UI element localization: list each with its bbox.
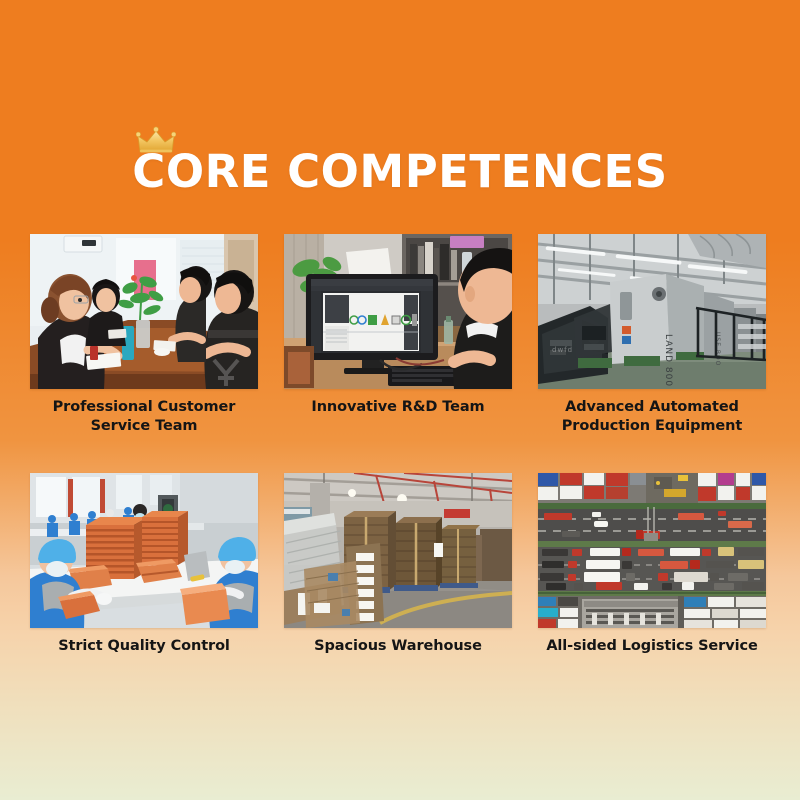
core-competences-page: CORE COMPETENCES xyxy=(0,0,800,800)
card-strict-quality-control[interactable]: Strict Quality Control xyxy=(30,473,258,656)
card-caption: Strict Quality Control xyxy=(30,637,258,656)
card-advanced-automated-production-equipment[interactable]: LAND 800 USE BOO xyxy=(538,234,766,435)
card-caption: Advanced Automated Production Equipment xyxy=(538,398,766,435)
card-image-quality-control xyxy=(30,473,258,628)
card-image-logistics-aerial xyxy=(538,473,766,628)
caption-line-1: Advanced Automated xyxy=(565,399,739,415)
page-header: CORE COMPETENCES xyxy=(0,148,800,195)
card-innovative-rd-team[interactable]: Innovative R&D Team xyxy=(284,234,512,435)
card-all-sided-logistics-service[interactable]: All-sided Logistics Service xyxy=(538,473,766,656)
caption-line-1: Innovative R&D Team xyxy=(311,399,484,415)
card-caption: Spacious Warehouse xyxy=(284,637,512,656)
card-image-meeting-room xyxy=(30,234,258,389)
card-caption: Innovative R&D Team xyxy=(284,398,512,417)
svg-text:LAND 800: LAND 800 xyxy=(663,334,673,387)
caption-line-1: Strict Quality Control xyxy=(58,638,230,654)
card-spacious-warehouse[interactable]: Spacious Warehouse xyxy=(284,473,512,656)
card-caption: Professional Customer Service Team xyxy=(30,398,258,435)
card-image-rd-workstation xyxy=(284,234,512,389)
caption-line-1: Professional Customer xyxy=(53,399,236,415)
card-professional-customer-service-team[interactable]: Professional Customer Service Team xyxy=(30,234,258,435)
caption-line-2: Service Team xyxy=(30,417,258,436)
title-wrap: CORE COMPETENCES xyxy=(132,148,667,195)
caption-line-1: All-sided Logistics Service xyxy=(546,638,757,654)
caption-line-1: Spacious Warehouse xyxy=(314,638,482,654)
card-caption: All-sided Logistics Service xyxy=(538,637,766,656)
competences-grid: Professional Customer Service Team xyxy=(30,234,770,656)
svg-text:dwfd: dwfd xyxy=(552,346,573,354)
caption-line-2: Production Equipment xyxy=(538,417,766,436)
card-image-production-line: LAND 800 USE BOO xyxy=(538,234,766,389)
page-title: CORE COMPETENCES xyxy=(132,148,667,195)
card-image-warehouse xyxy=(284,473,512,628)
